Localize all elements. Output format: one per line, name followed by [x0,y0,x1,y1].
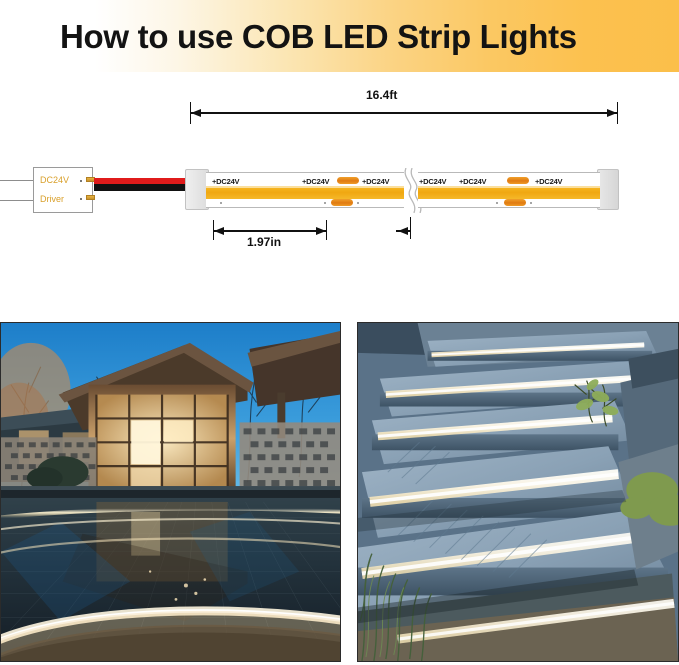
driver-terminal-block [86,195,95,200]
strip-voltage-label: +DC24V [459,177,486,186]
cob-light-channel [418,188,600,199]
arrow-right-icon [607,109,617,117]
solder-pad [507,177,529,184]
cob-light-channel [206,188,404,199]
mains-lead-wire [0,180,33,181]
strip-voltage-label: +DC24V [535,177,562,186]
dimension-line-cut-unit [213,230,327,232]
photo-stairs-illustration [358,323,678,661]
strip-end-cap-right [597,169,619,210]
arrow-left-icon [214,227,224,235]
photo-outdoor-stairs-scene [357,322,679,662]
strip-voltage-label: +DC24V [419,177,446,186]
cut-mark-dot [357,202,359,204]
strip-voltage-label: +DC24V [212,177,239,186]
solder-pad [331,199,353,206]
driver-terminal-screw [80,198,82,200]
cut-mark-dot [496,202,498,204]
negative-wire [94,184,191,191]
driver-label-voltage: DC24V [40,175,69,185]
solder-pad [504,199,526,206]
page-title: How to use COB LED Strip Lights [60,18,577,56]
driver-terminal-screw [80,180,82,182]
led-strip-segment: +DC24V +DC24V +DC24V [418,172,600,208]
photo-pool-house-illustration [1,323,340,661]
dimension-extension-line-break [410,217,411,239]
led-strip-segment: +DC24V +DC24V +DC24V [206,172,404,208]
cut-mark-dot [530,202,532,204]
dimension-line-total-length [190,112,618,114]
strip-voltage-label: +DC24V [302,177,329,186]
arrow-left-icon [398,227,408,235]
cut-mark-dot [220,202,222,204]
wiring-diagram: 16.4ft DC24V Driver +DC24V +DC24V +DC24V [0,72,679,310]
cut-mark-dot [324,202,326,204]
arrow-left-icon [191,109,201,117]
mains-lead-wire [0,200,33,201]
solder-pad [337,177,359,184]
arrow-right-icon [316,227,326,235]
dc24v-driver-box [33,167,93,213]
photo-pool-house-night-scene [0,322,341,662]
strip-voltage-label: +DC24V [362,177,389,186]
driver-label-name: Driver [40,194,64,204]
dimension-label-total-length: 16.4ft [366,88,397,102]
dimension-label-cut-unit: 1.97in [247,235,281,249]
header-banner: How to use COB LED Strip Lights [0,0,679,72]
